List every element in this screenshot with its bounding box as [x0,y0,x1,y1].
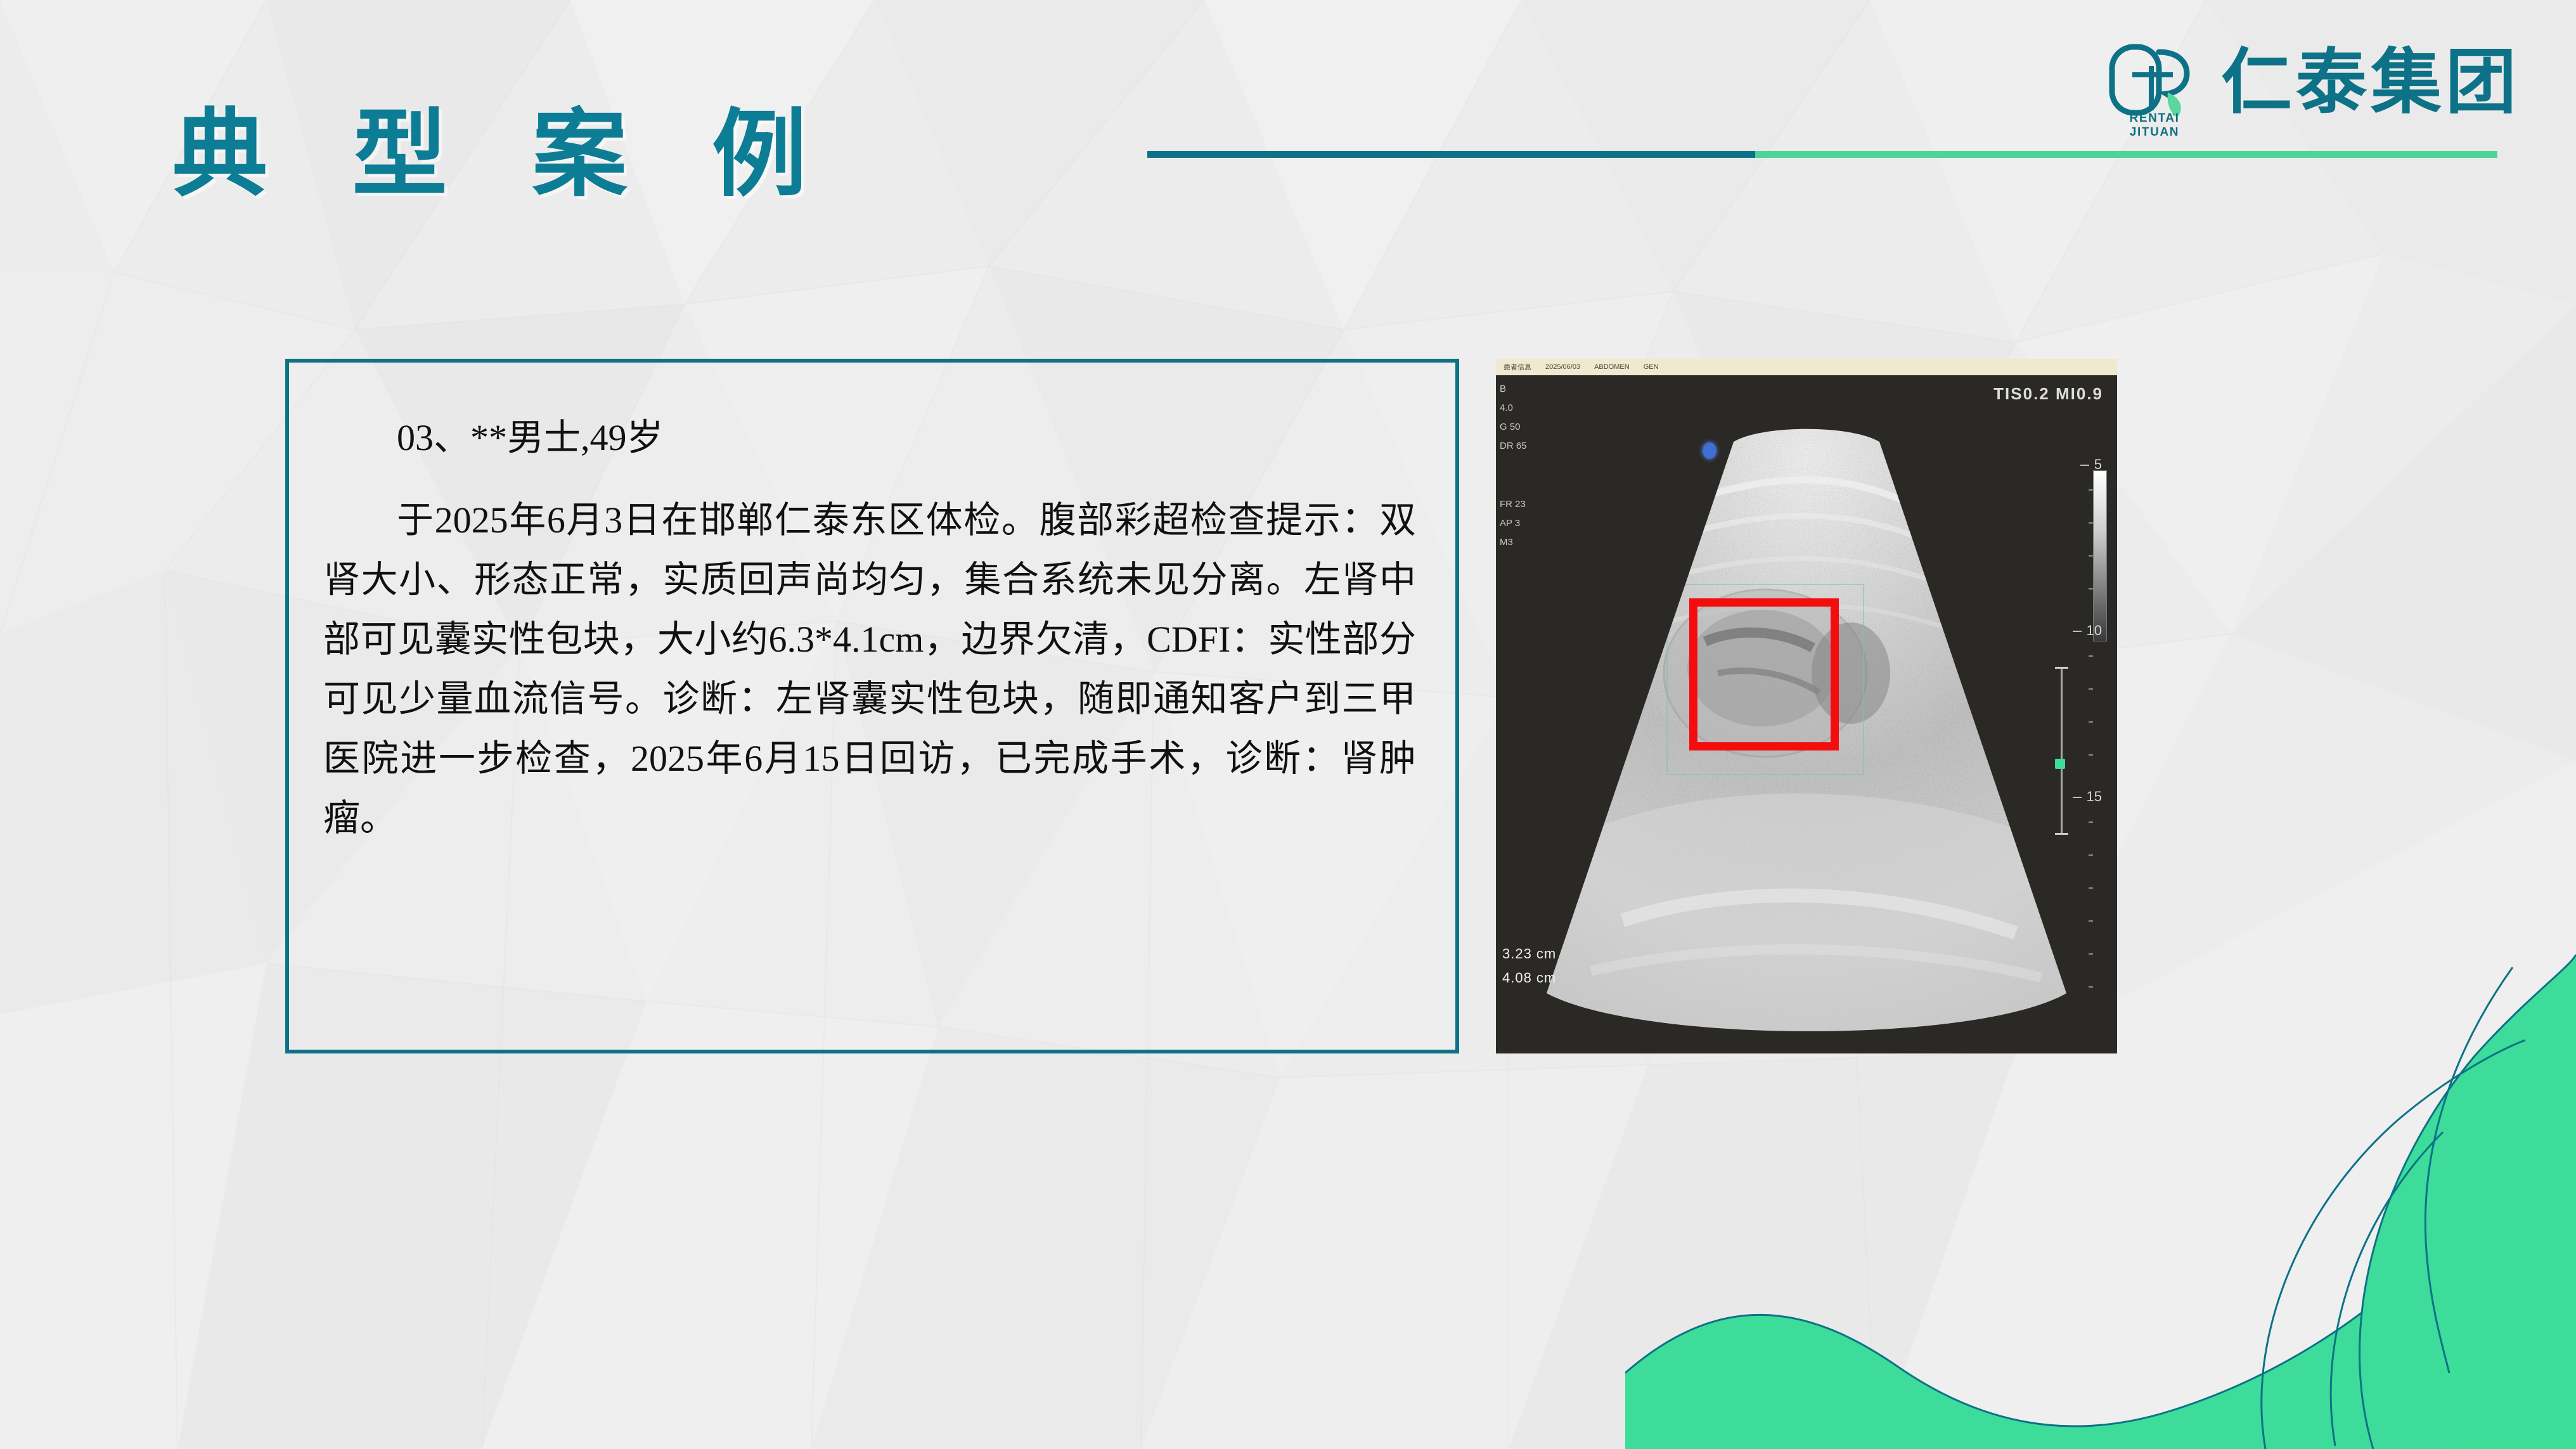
depth-caliper-icon [2061,667,2063,835]
header-divider-rule [1147,151,2497,158]
grayscale-reference-bar [2093,470,2107,641]
header-rule-green-segment [1755,151,2498,158]
scan-param-3: DR 65 [1500,441,1527,451]
case-text-card: 03、**男士,49岁 于2025年6月3日在邯郸仁泰东区体检。腹部彩超检查提示… [285,359,1459,1053]
scan-param-0: B [1500,384,1506,394]
logo-caption: RENTAI JITUAN [2107,112,2202,139]
brand-logo: RENTAI JITUAN 仁泰集团 [2107,39,2520,134]
ultrasound-image: 患者信息 2025/06/03 ABDOMEN GEN [1496,359,2117,1053]
depth-minor-tick [2089,754,2093,756]
topbar-item-2: ABDOMEN [1594,363,1630,371]
probe-orientation-marker-icon [1703,442,1716,459]
depth-minor-tick [2089,953,2093,955]
scan-param-1: 4.0 [1500,403,1513,413]
scan-param-5: AP 3 [1500,518,1520,529]
rentai-circle-leaf-icon: RENTAI JITUAN [2107,39,2202,134]
depth-minor-tick [2089,920,2093,922]
scan-param-4: FR 23 [1500,499,1526,510]
topbar-item-3: GEN [1644,363,1659,371]
logo-wordmark: 仁泰集团 [2221,47,2520,127]
scan-param-2: G 50 [1500,422,1521,432]
roi-red-highlight-box [1689,598,1839,750]
depth-minor-tick [2089,555,2093,557]
depth-minor-tick [2089,721,2093,723]
topbar-item-1: 2025/06/03 [1545,363,1580,371]
ultrasound-scan-canvas: TIS0.2 MI0.9 B 4.0 G 50 DR 65 FR 23 AP 3… [1496,375,2117,1053]
measurement-1: 4.08 cm [1502,970,1556,986]
page-title: 典 型 案 例 [172,106,836,202]
case-heading: 03、**男士,49岁 [323,409,1416,467]
depth-tick-15: 15 [2087,789,2102,805]
depth-minor-tick [2089,655,2093,657]
tis-mi-readout: TIS0.2 MI0.9 [1993,384,2103,404]
depth-minor-tick [2089,588,2093,589]
depth-minor-tick [2089,887,2093,889]
depth-tick-10: 10 [2087,622,2102,639]
scan-param-6: M3 [1500,538,1513,548]
depth-minor-tick [2089,854,2093,856]
depth-minor-tick [2089,522,2093,524]
topbar-item-0: 患者信息 [1504,362,1531,372]
depth-minor-tick [2089,986,2093,988]
case-body-text: 于2025年6月3日在邯郸仁泰东区体检。腹部彩超检查提示：双肾大小、形态正常，实… [323,491,1416,848]
ultrasound-topbar: 患者信息 2025/06/03 ABDOMEN GEN [1496,359,2117,375]
depth-minor-tick [2089,821,2093,823]
depth-minor-tick [2089,688,2093,690]
header-rule-teal-segment [1147,151,1755,158]
slide-canvas: 典 型 案 例 RENTAI JITUAN 仁泰集团 03、**男士,49岁 于… [0,0,2576,1449]
depth-tick-5: 5 [2094,456,2102,473]
green-depth-marker-icon [2055,759,2065,769]
depth-minor-tick [2089,489,2093,491]
measurement-0: 3.23 cm [1502,946,1556,962]
